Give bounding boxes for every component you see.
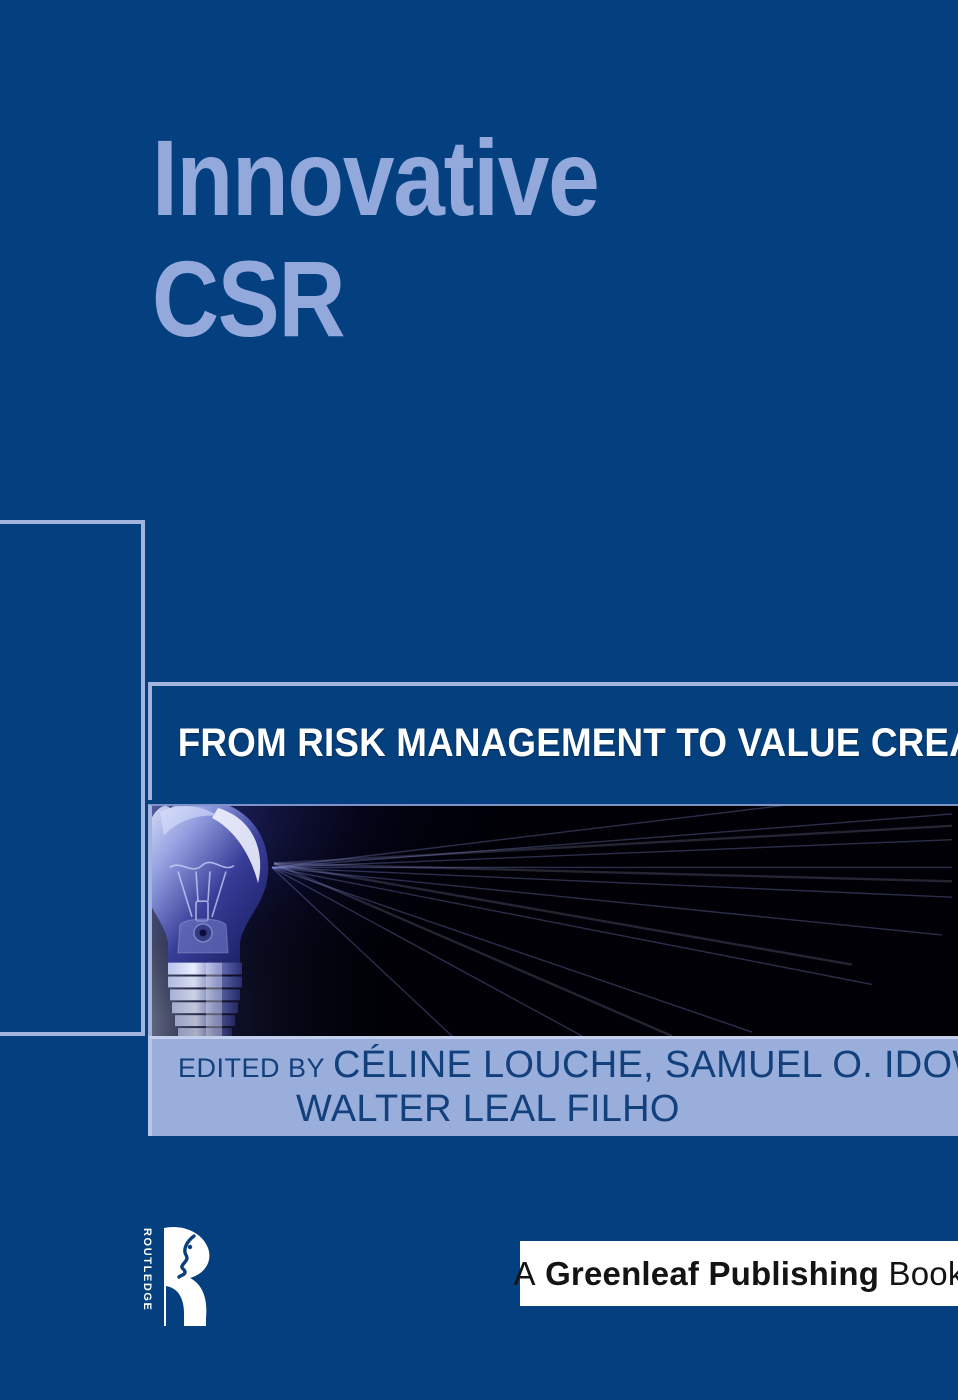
routledge-r-face-icon: ROUTLEDGE [120, 1222, 240, 1332]
editors-line-2: WALTER LEAL FILHO [178, 1088, 958, 1131]
lightbulb-artwork-panel [148, 804, 958, 1036]
title-line-2: CSR [152, 239, 771, 360]
greenleaf-name: Greenleaf Publishing [545, 1255, 879, 1292]
routledge-logo: ROUTLEDGE [120, 1222, 240, 1332]
greenleaf-prefix: A [513, 1255, 535, 1292]
book-title: Innovative CSR [152, 118, 872, 360]
greenleaf-suffix: Book [889, 1255, 958, 1292]
book-cover: Innovative CSR FROM RISK MANAGEMENT TO V… [0, 0, 958, 1400]
decorative-frame-rectangle [0, 520, 145, 1036]
edited-by-label: EDITED BY [178, 1053, 325, 1083]
book-subtitle: FROM RISK MANAGEMENT TO VALUE CREATION [152, 721, 958, 766]
lightbulb-icon [152, 806, 958, 1036]
editors-line-1: EDITED BY CÉLINE LOUCHE, SAMUEL O. IDOWU… [178, 1044, 958, 1087]
svg-text:ROUTLEDGE: ROUTLEDGE [141, 1228, 153, 1311]
editors-band: EDITED BY CÉLINE LOUCHE, SAMUEL O. IDOWU… [148, 1036, 958, 1136]
greenleaf-publishing-label: A Greenleaf Publishing Book [513, 1255, 958, 1293]
editors-names-line-2: WALTER LEAL FILHO [296, 1088, 680, 1130]
subtitle-band: FROM RISK MANAGEMENT TO VALUE CREATION [148, 682, 958, 800]
title-line-1: Innovative [152, 118, 771, 239]
editors-names-line-1: CÉLINE LOUCHE, SAMUEL O. IDOWU [333, 1044, 958, 1086]
greenleaf-publishing-box: A Greenleaf Publishing Book [520, 1241, 958, 1306]
